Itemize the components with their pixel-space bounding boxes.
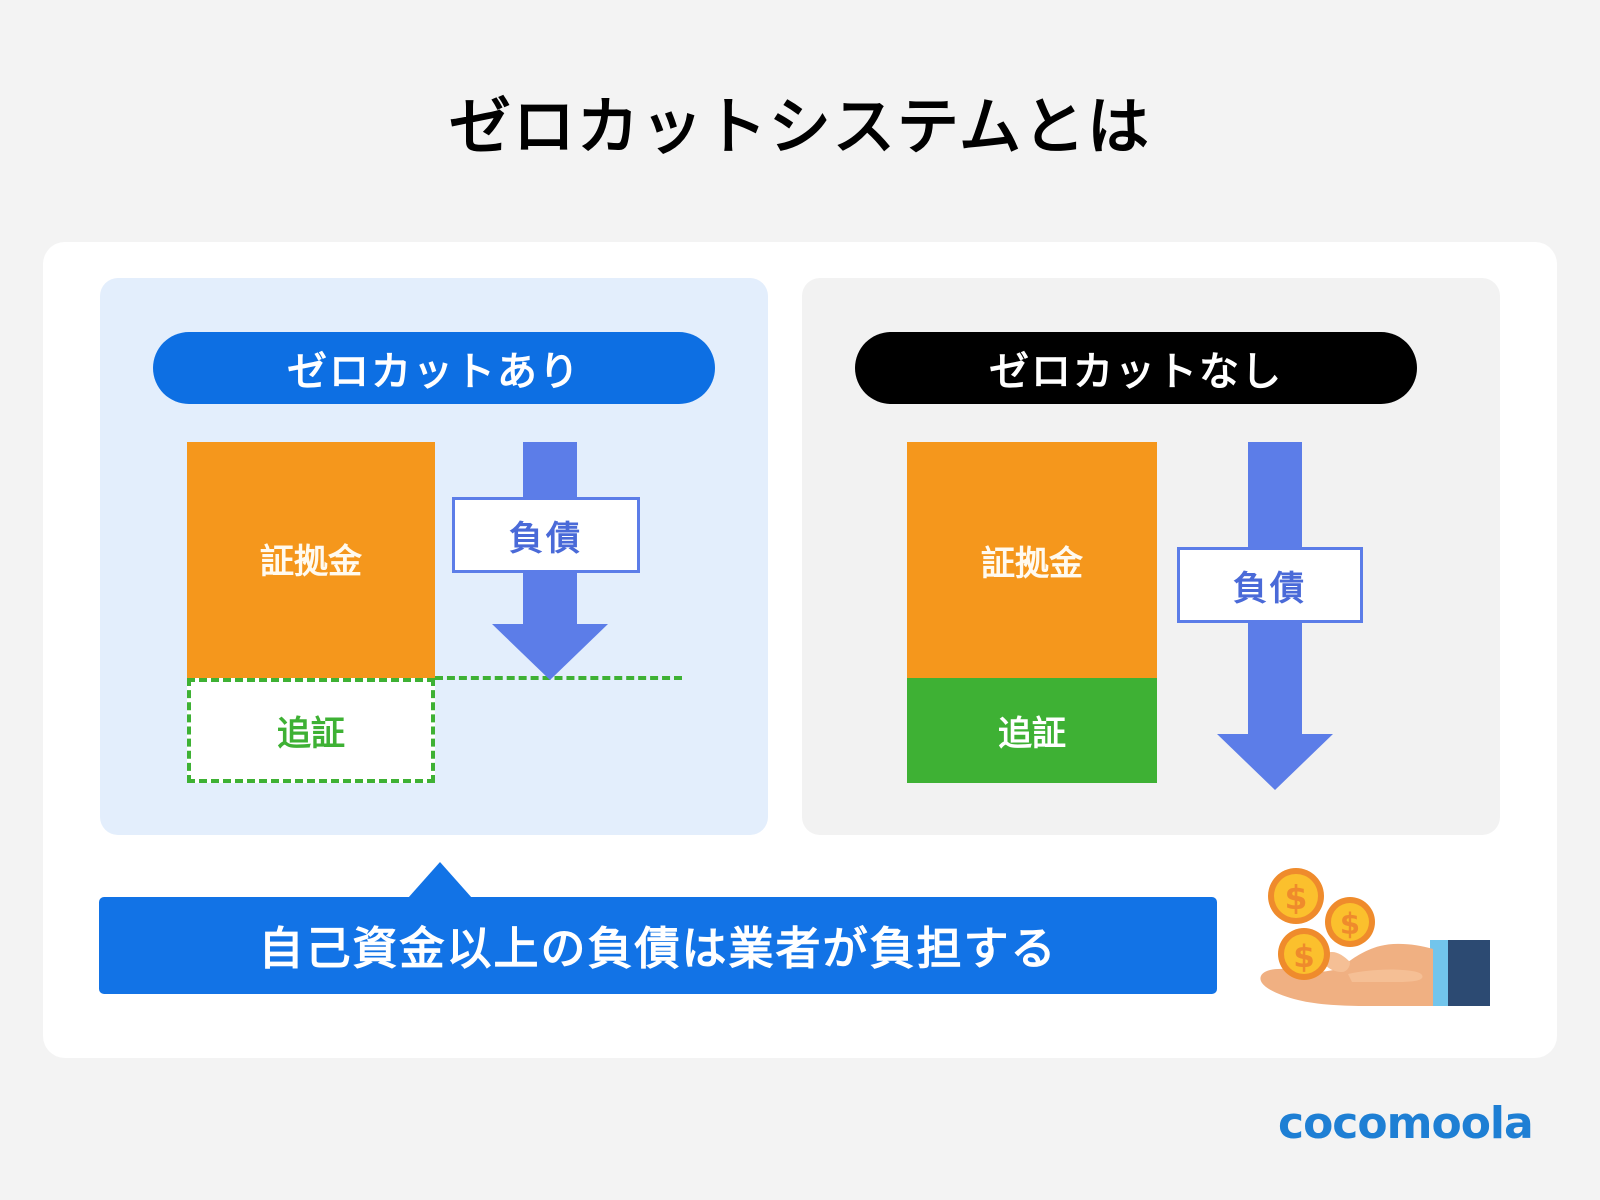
left-liability-label: 負債 <box>509 511 583 560</box>
infographic-stage: ゼロカットシステムとは ゼロカットあり ゼロカットなし 証拠金 追証 負債 証拠… <box>0 0 1600 1200</box>
svg-text:$: $ <box>1293 939 1315 975</box>
left-margin-bar: 証拠金 <box>187 442 435 678</box>
right-liability-label: 負債 <box>1233 561 1307 610</box>
summary-banner-text: 自己資金以上の負債は業者が負担する <box>258 912 1057 977</box>
banner-pointer <box>408 862 472 898</box>
badge-zerocut-without-label: ゼロカットなし <box>989 339 1283 397</box>
badge-zerocut-without: ゼロカットなし <box>855 332 1417 404</box>
badge-zerocut-with: ゼロカットあり <box>153 332 715 404</box>
right-margin-bar: 証拠金 <box>907 442 1157 678</box>
right-margin-call-label: 追証 <box>998 706 1066 755</box>
right-margin-bar-label: 証拠金 <box>981 536 1083 585</box>
right-liability-box: 負債 <box>1177 547 1363 623</box>
left-margin-call-box: 追証 <box>187 678 435 783</box>
badge-zerocut-with-label: ゼロカットあり <box>287 339 581 397</box>
left-margin-call-label: 追証 <box>277 706 345 755</box>
hand-with-coins-icon: $ $ $ <box>1240 846 1490 1006</box>
svg-text:$: $ <box>1285 878 1308 917</box>
summary-banner: 自己資金以上の負債は業者が負担する <box>99 897 1217 994</box>
left-margin-bar-label: 証拠金 <box>260 534 362 583</box>
brand-logo: cocomoola <box>1278 1098 1548 1150</box>
page-title: ゼロカットシステムとは <box>0 76 1600 166</box>
svg-text:$: $ <box>1340 907 1360 941</box>
right-margin-call-bar: 追証 <box>907 678 1157 783</box>
left-liability-box: 負債 <box>452 497 640 573</box>
